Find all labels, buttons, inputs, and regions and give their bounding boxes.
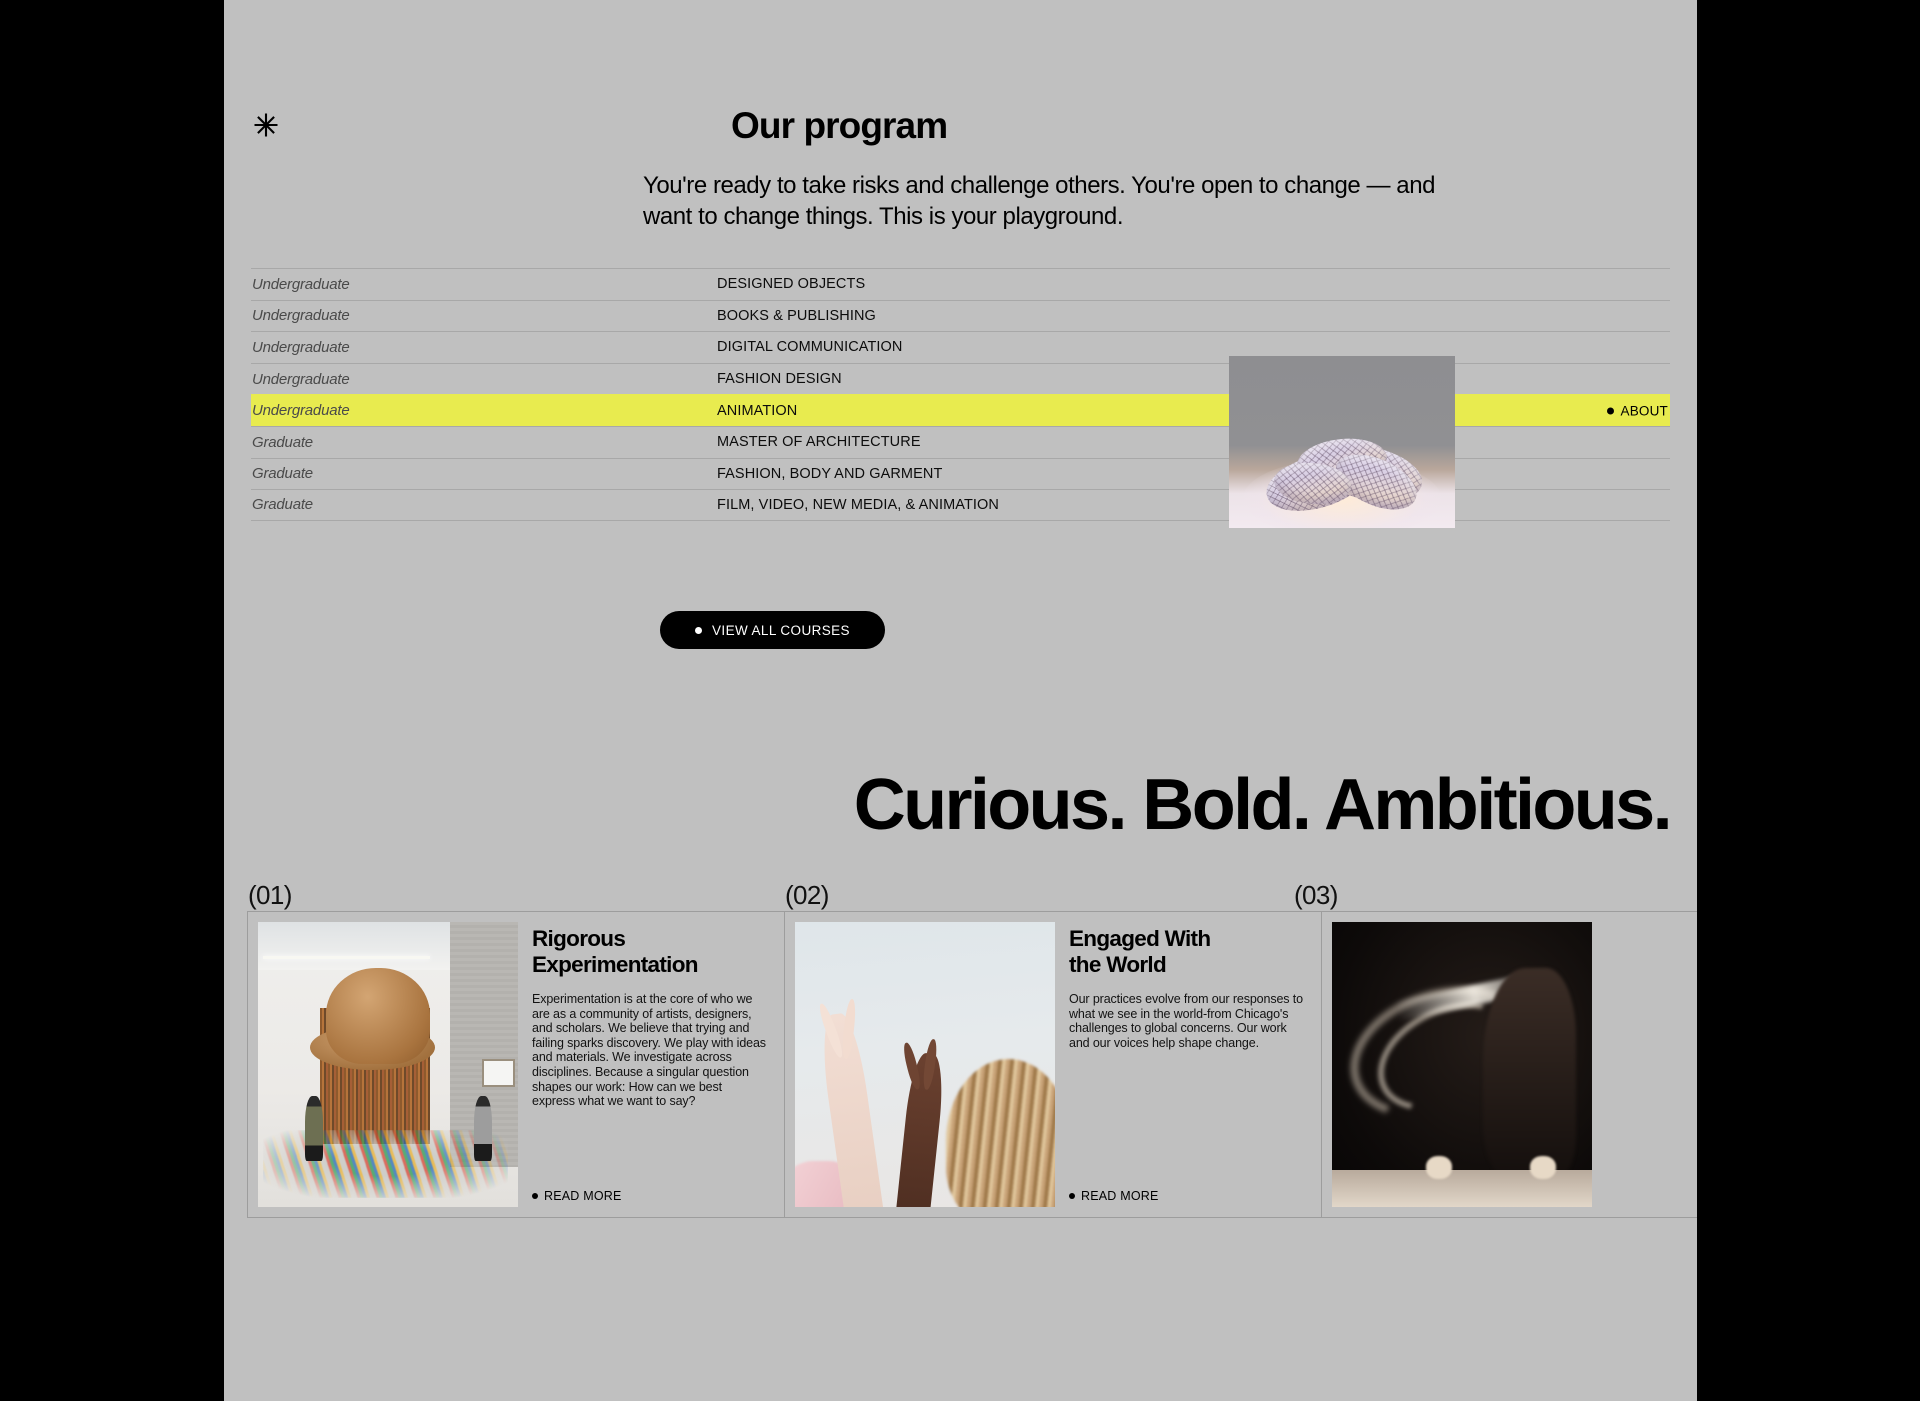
- program-level: Undergraduate: [251, 276, 717, 293]
- program-name: FILM, VIDEO, NEW MEDIA, & ANIMATION: [717, 497, 1670, 513]
- dancer-motion-blur-photo-icon: [1332, 922, 1592, 1207]
- program-row[interactable]: Graduate FILM, VIDEO, NEW MEDIA, & ANIMA…: [251, 489, 1670, 521]
- read-more-label: READ MORE: [544, 1189, 622, 1203]
- card-number-03: (03): [1294, 880, 1338, 911]
- program-row[interactable]: Undergraduate DIGITAL COMMUNICATION: [251, 331, 1670, 363]
- program-level: Undergraduate: [251, 402, 717, 419]
- program-level: Graduate: [251, 434, 717, 451]
- program-header: Our program You're ready to take risks a…: [224, 0, 1697, 250]
- card-body: Engaged With the World Our practices evo…: [1055, 912, 1321, 1217]
- program-name: FASHION, BODY AND GARMENT: [717, 466, 1670, 482]
- card-title: Engaged With the World: [1069, 926, 1303, 978]
- view-all-courses-label: VIEW ALL COURSES: [712, 623, 850, 638]
- program-name: DIGITAL COMMUNICATION: [717, 339, 1670, 355]
- about-link-label: ABOUT: [1620, 403, 1668, 418]
- raised-hands-peace-sign-photo-icon: [795, 922, 1055, 1207]
- card-body: Rigorous Experimentation Experimentation…: [518, 912, 784, 1217]
- program-name: FASHION DESIGN: [717, 371, 1670, 387]
- program-row[interactable]: Graduate FASHION, BODY AND GARMENT: [251, 458, 1670, 490]
- section-headline: Curious. Bold. Ambitious.: [224, 769, 1670, 841]
- program-level: Undergraduate: [251, 339, 717, 356]
- card-text: Our practices evolve from our responses …: [1069, 992, 1303, 1050]
- card-number-01: (01): [248, 880, 292, 911]
- about-link[interactable]: ABOUT: [1607, 403, 1668, 418]
- view-all-courses-button[interactable]: VIEW ALL COURSES: [660, 611, 885, 649]
- bullet-dot-icon: [1607, 407, 1614, 414]
- read-more-label: READ MORE: [1081, 1189, 1159, 1203]
- page-viewport: Our program You're ready to take risks a…: [224, 0, 1697, 1401]
- page-subtitle: You're ready to take risks and challenge…: [643, 170, 1443, 232]
- program-row[interactable]: Graduate MASTER OF ARCHITECTURE: [251, 426, 1670, 458]
- card-title: Rigorous Experimentation: [532, 926, 766, 978]
- read-more-link[interactable]: READ MORE: [1069, 1189, 1159, 1203]
- program-name: BOOKS & PUBLISHING: [717, 308, 1670, 324]
- card-body: [1592, 912, 1697, 1217]
- knotted-torus-render-thumbnail-icon: [1229, 356, 1455, 528]
- bullet-dot-icon: [1069, 1193, 1075, 1199]
- values-card-carousel[interactable]: Rigorous Experimentation Experimentation…: [247, 911, 1697, 1218]
- read-more-link[interactable]: READ MORE: [532, 1189, 622, 1203]
- card-item[interactable]: [1321, 911, 1697, 1218]
- card-text: Experimentation is at the core of who we…: [532, 992, 766, 1109]
- program-name: MASTER OF ARCHITECTURE: [717, 434, 1670, 450]
- card-item[interactable]: Engaged With the World Our practices evo…: [784, 911, 1321, 1218]
- card-number-02: (02): [785, 880, 829, 911]
- bullet-dot-icon: [695, 627, 702, 634]
- fiber-sculpture-gallery-photo-icon: [258, 922, 518, 1207]
- program-name: DESIGNED OBJECTS: [717, 276, 1670, 292]
- program-level: Undergraduate: [251, 307, 717, 324]
- program-level: Graduate: [251, 465, 717, 482]
- program-level: Undergraduate: [251, 371, 717, 388]
- page-title: Our program: [731, 107, 947, 144]
- program-row[interactable]: Undergraduate DESIGNED OBJECTS: [251, 268, 1670, 300]
- program-name: ANIMATION: [717, 403, 1670, 419]
- bullet-dot-icon: [532, 1193, 538, 1199]
- program-row[interactable]: Undergraduate BOOKS & PUBLISHING: [251, 300, 1670, 332]
- program-row[interactable]: Undergraduate FASHION DESIGN: [251, 363, 1670, 395]
- card-item[interactable]: Rigorous Experimentation Experimentation…: [247, 911, 784, 1218]
- program-level: Graduate: [251, 496, 717, 513]
- asterisk-logo-icon[interactable]: [253, 112, 279, 138]
- program-row-active-animation[interactable]: Undergraduate ANIMATION ABOUT: [251, 394, 1670, 426]
- program-list: Undergraduate DESIGNED OBJECTS Undergrad…: [251, 268, 1670, 521]
